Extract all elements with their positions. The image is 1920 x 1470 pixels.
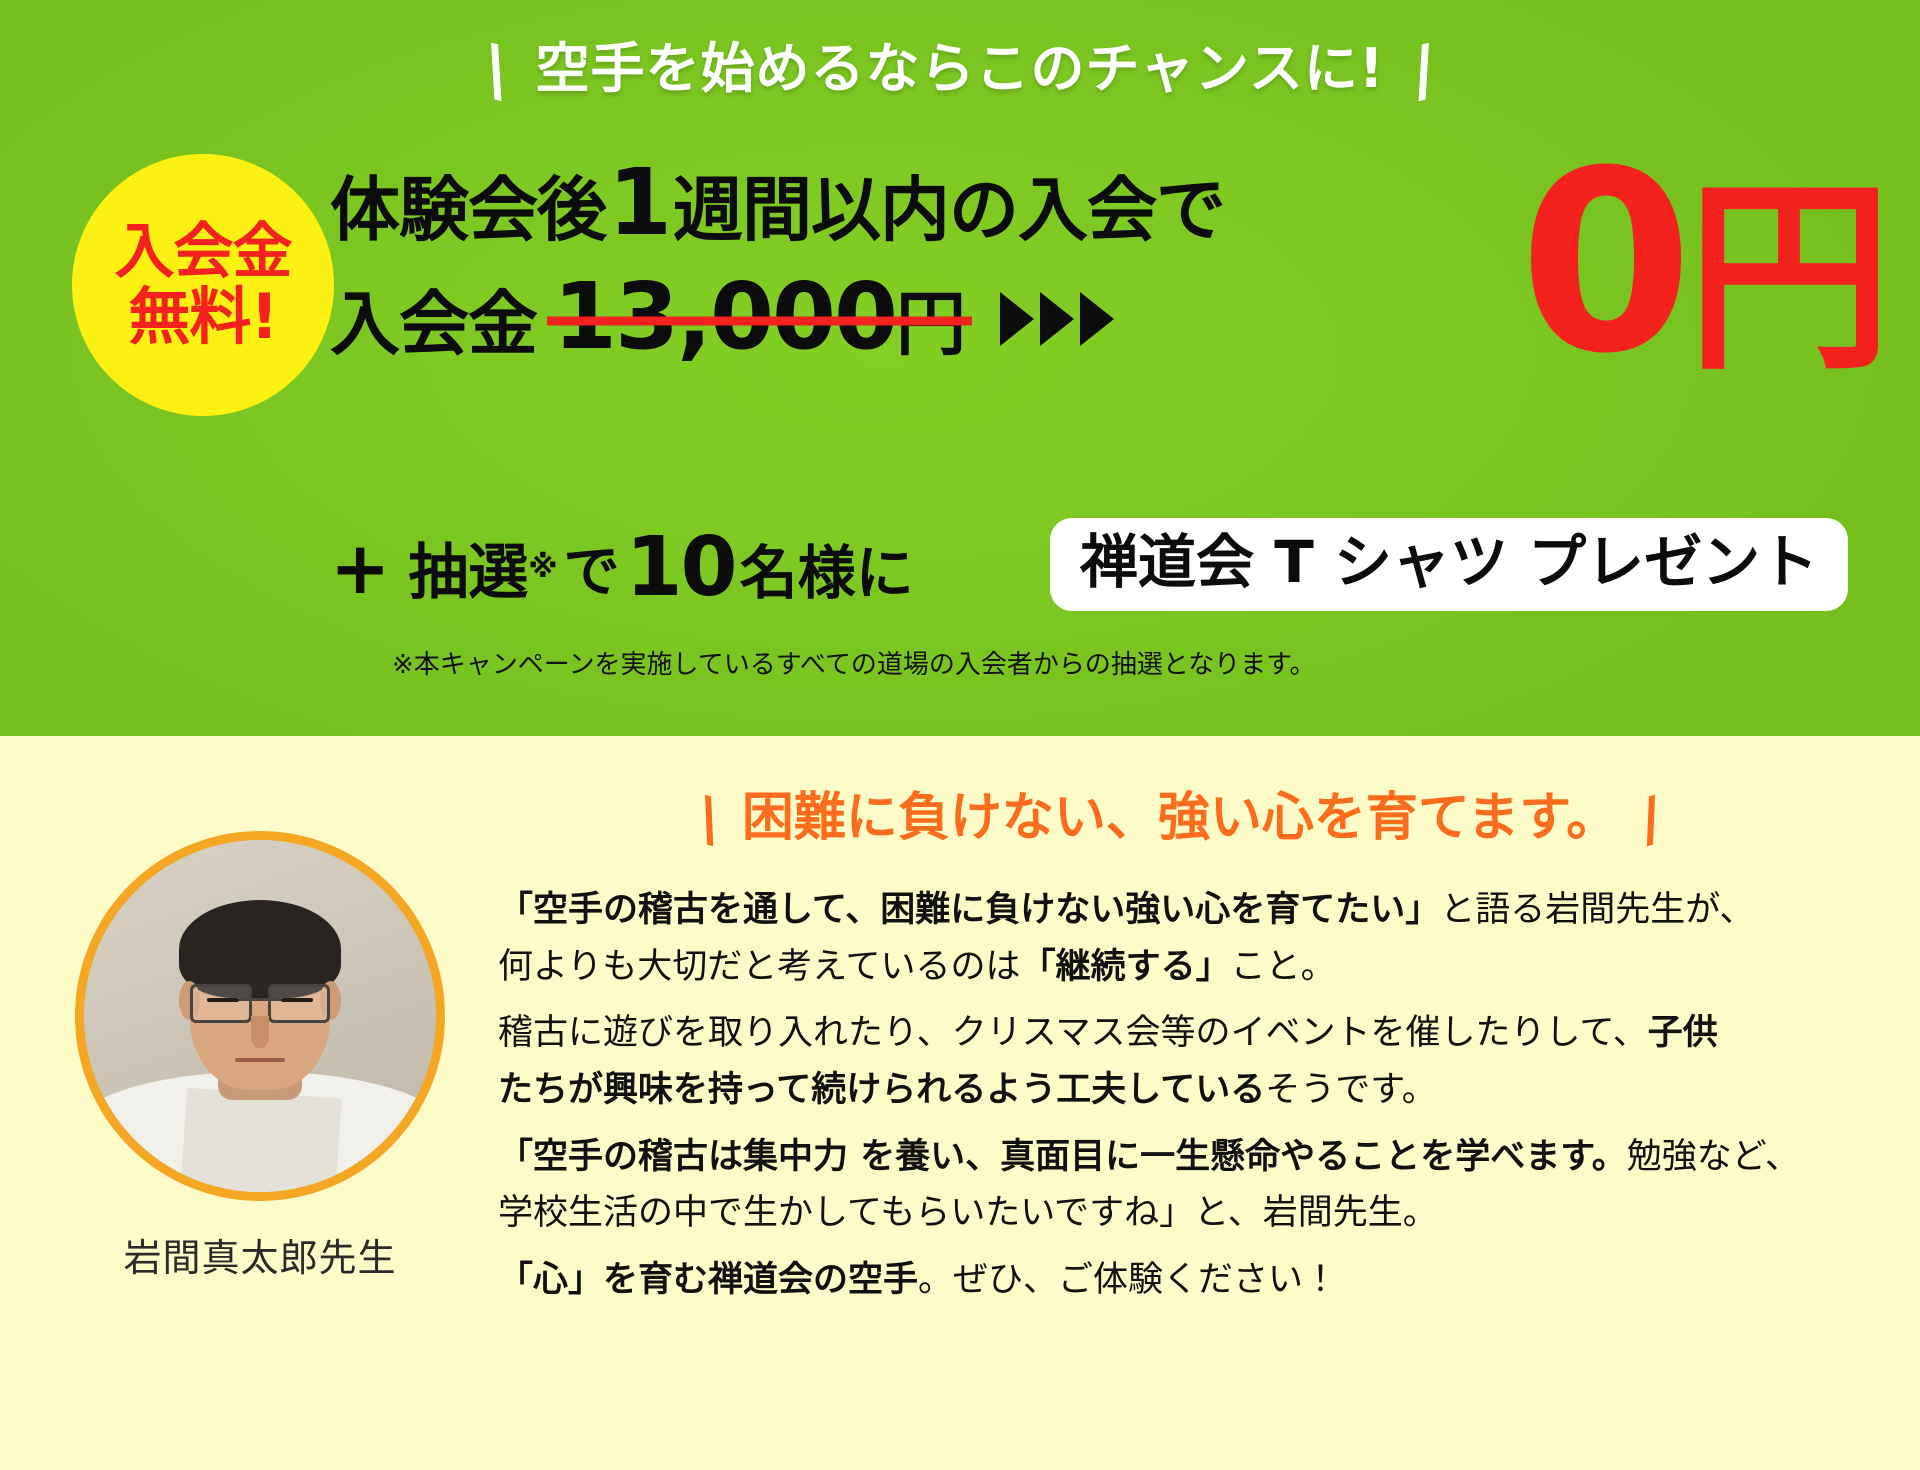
free-admission-badge: 入会金 無料! (72, 154, 334, 416)
body-text: こと。 (1231, 947, 1336, 987)
lead-slash-right-decoration: / (1633, 788, 1668, 850)
teacher-paragraph-line: 稽古に遊びを取り入れたり、クリスマス会等のイベントを催したりして、子供 (498, 1005, 1898, 1062)
strikethrough-line (547, 316, 972, 325)
teacher-paragraph: 「空手の稽古は集中力 を養い、真面目に一生懸命やることを学べます。勉強など、学校… (498, 1129, 1898, 1242)
teacher-paragraph-line: 「空手の稽古は集中力 を養い、真面目に一生懸命やることを学べます。勉強など、 (498, 1129, 1898, 1186)
new-price-unit: 円 (1687, 160, 1886, 398)
teacher-photo-column: 岩間真太郎先生 (70, 831, 450, 1282)
campaign-headline-text: 空手を始めるならこのチャンスに! (535, 39, 1384, 98)
emphasis-text: 子供 (1648, 1013, 1718, 1053)
teacher-lead-text: 困難に負けない、強い心を育てます。 (742, 790, 1618, 847)
teacher-paragraph-line: たちが興味を持って続けられるよう工夫しているそうです。 (498, 1062, 1898, 1119)
new-price-value: 0 (1519, 117, 1687, 408)
body-text: 。ぜひ、ご体験ください！ (918, 1260, 1338, 1300)
body-text: と語る岩間先生が、 (1440, 890, 1754, 930)
struck-price-group: 13,000円 (553, 268, 966, 369)
body-text: 何よりも大切だと考えているのは (498, 947, 1021, 987)
teacher-name-caption: 岩間真太郎先生 (123, 1227, 396, 1282)
teacher-paragraph: 「心」を育む禅道会の空手。ぜひ、ご体験ください！ (498, 1252, 1898, 1309)
tshirt-gift-label: 禅道会 T シャツ プレゼント (1080, 532, 1818, 593)
offer-condition-suffix: 週間以内の入会で (673, 175, 1225, 246)
teacher-paragraph: 「空手の稽古を通して、困難に負けない強い心を育てたい」と語る岩間先生が、何よりも… (498, 882, 1898, 995)
new-price-display: 0円 (1519, 148, 1886, 378)
slash-left-decoration: \ (477, 36, 516, 106)
bonus-winner-count: 10 (626, 527, 736, 609)
bonus-particle: で (564, 527, 620, 608)
plus-icon: + (330, 532, 390, 604)
triangle-right-icon (1080, 292, 1114, 346)
lead-slash-left-decoration: \ (692, 788, 727, 850)
badge-label-free: 無料! (128, 286, 277, 348)
emphasis-text: たちが興味を持って続けられるよう工夫している (498, 1070, 1265, 1110)
bonus-line: + 抽選 ※ で 10 名様に (330, 524, 914, 611)
campaign-headline: \ 空手を始めるならこのチャンスに! / (0, 36, 1920, 102)
body-text: 勉強など、 (1627, 1137, 1800, 1177)
bonus-asterisk-marker: ※ (528, 550, 557, 585)
teacher-portrait-image (84, 840, 436, 1192)
teacher-paragraph-line: 学校生活の中で生かしてもらいたいですね」と、岩間先生。 (498, 1185, 1898, 1242)
tshirt-gift-pill: 禅道会 T シャツ プレゼント (1050, 518, 1848, 611)
slash-right-decoration: / (1403, 36, 1442, 106)
body-text: 学校生活の中で生かしてもらいたいですね」と、岩間先生。 (498, 1193, 1438, 1233)
offer-condition-prefix: 体験会後 (330, 175, 606, 246)
emphasis-text: 「空手の稽古は集中力 を養い、真面目に一生懸命やることを学べます。 (498, 1137, 1627, 1177)
teacher-paragraph-line: 「心」を育む禅道会の空手。ぜひ、ご体験ください！ (498, 1252, 1898, 1309)
teacher-body-text: 「空手の稽古を通して、困難に負けない強い心を育てたい」と語る岩間先生が、何よりも… (498, 882, 1898, 1319)
body-text: そうです。 (1265, 1070, 1437, 1110)
body-text: 稽古に遊びを取り入れたり、クリスマス会等のイベントを催したりして、 (498, 1013, 1648, 1053)
badge-label-admission-fee: 入会金 (115, 222, 292, 282)
triangle-right-icon (1040, 292, 1074, 346)
emphasis-text: 「空手の稽古を通して、困難に負けない強い心を育てたい」 (498, 890, 1440, 930)
triangle-right-icon (1000, 292, 1034, 346)
emphasis-text: 「心」を育む禅道会の空手 (498, 1260, 918, 1300)
teacher-paragraph: 稽古に遊びを取り入れたり、クリスマス会等のイベントを催したりして、子供たちが興味… (498, 1005, 1898, 1118)
bonus-lottery-label: 抽選 (408, 524, 528, 611)
teacher-panel: 岩間真太郎先生 \ 困難に負けない、強い心を育てます。 / 「空手の稽古を通して… (0, 736, 1920, 1470)
teacher-paragraph-line: 何よりも大切だと考えているのは「継続する」こと。 (498, 939, 1898, 996)
bonus-winner-suffix: 名様に (740, 526, 914, 610)
emphasis-text: 「継続する」 (1021, 947, 1231, 987)
offer-week-number: 1 (606, 166, 673, 240)
offer-price-label: 入会金 (330, 268, 537, 369)
teacher-avatar (75, 831, 445, 1201)
campaign-disclaimer: ※本キャンペーンを実施しているすべての道場の入会者からの抽選となります。 (392, 644, 1315, 681)
campaign-panel: \ 空手を始めるならこのチャンスに! / 入会金 無料! 体験会後 1 週間以内… (0, 0, 1920, 736)
teacher-paragraph-line: 「空手の稽古を通して、困難に負けない強い心を育てたい」と語る岩間先生が、 (498, 882, 1898, 939)
teacher-lead-headline: \ 困難に負けない、強い心を育てます。 / (480, 790, 1880, 848)
arrow-group (1000, 292, 1114, 346)
promo-banner: \ 空手を始めるならこのチャンスに! / 入会金 無料! 体験会後 1 週間以内… (0, 0, 1920, 1470)
